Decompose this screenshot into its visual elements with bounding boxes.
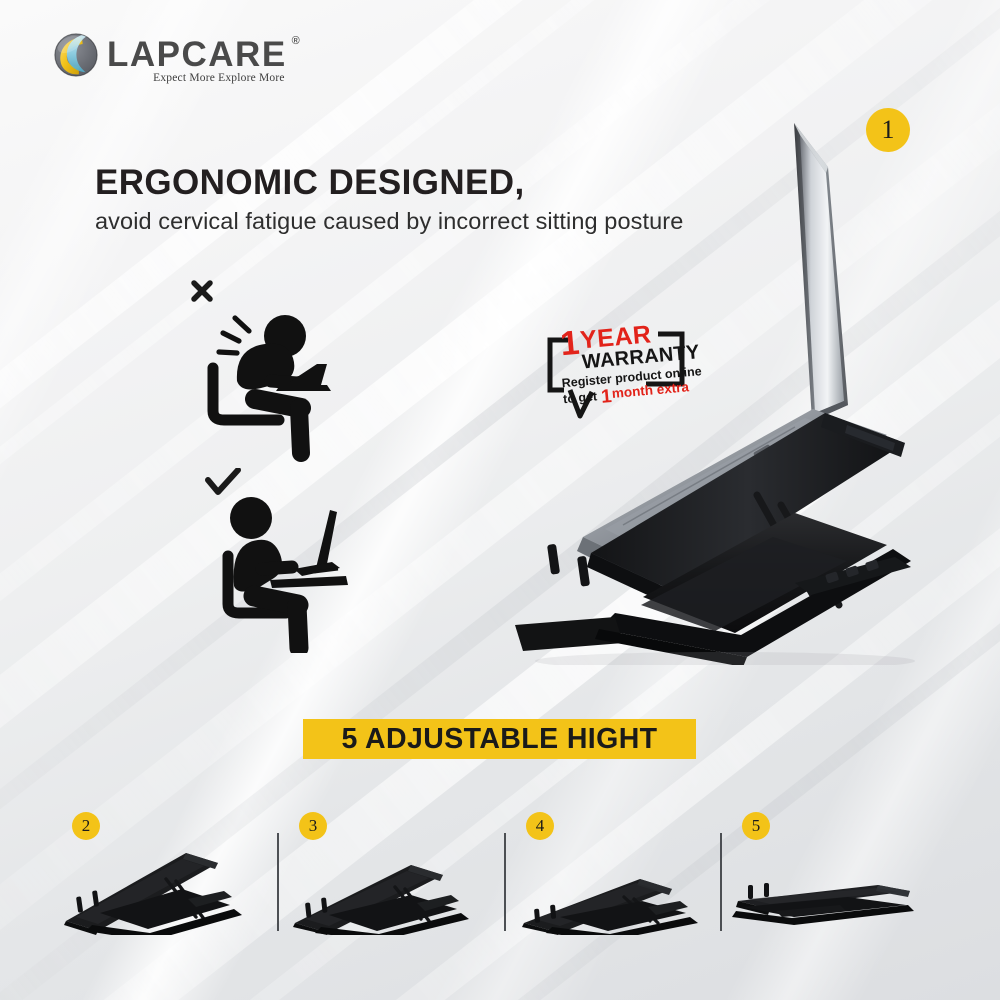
adjustable-height-banner: 5 ADJUSTABLE HIGHT (303, 719, 696, 759)
lapcare-globe-logo-icon (52, 31, 100, 79)
position-divider-3 (720, 833, 722, 931)
check-mark-icon (208, 470, 238, 492)
shin-icon (297, 605, 299, 648)
registered-trademark-symbol: ® (292, 35, 300, 47)
hero-product-laptop-stand (495, 105, 925, 665)
head-icon (230, 497, 272, 539)
bad-posture-pictogram (175, 278, 375, 463)
position-badge-1: 1 (866, 108, 910, 152)
stand-position-5-illustration (728, 855, 928, 935)
stand-position-2-illustration (58, 835, 258, 935)
page-title: ERGONOMIC DESIGNED, (95, 163, 525, 203)
good-posture-pictogram (198, 468, 398, 653)
position-badge-5: 5 (742, 812, 770, 840)
pain-rays-icon (219, 318, 249, 353)
position-divider-2 (504, 833, 506, 931)
product-marketing-image: LAPCARE ® Expect More Explore More ERGON… (0, 0, 1000, 1000)
stand-position-3-illustration (285, 835, 485, 935)
stand-position-4-illustration (512, 835, 712, 935)
brand-logo: LAPCARE ® Expect More Explore More (52, 31, 287, 84)
position-divider-1 (277, 833, 279, 931)
brand-name: LAPCARE (107, 37, 287, 73)
banner-label: 5 ADJUSTABLE HIGHT (342, 723, 658, 756)
shin-icon (299, 408, 301, 453)
laptop-on-stand-icon (270, 510, 348, 588)
stand-base (86, 889, 242, 935)
front-stoppers (748, 883, 769, 899)
laptop-screen (794, 123, 848, 421)
cross-mark-icon (194, 283, 210, 299)
stand-base (315, 895, 469, 935)
arm-icon (262, 567, 292, 569)
